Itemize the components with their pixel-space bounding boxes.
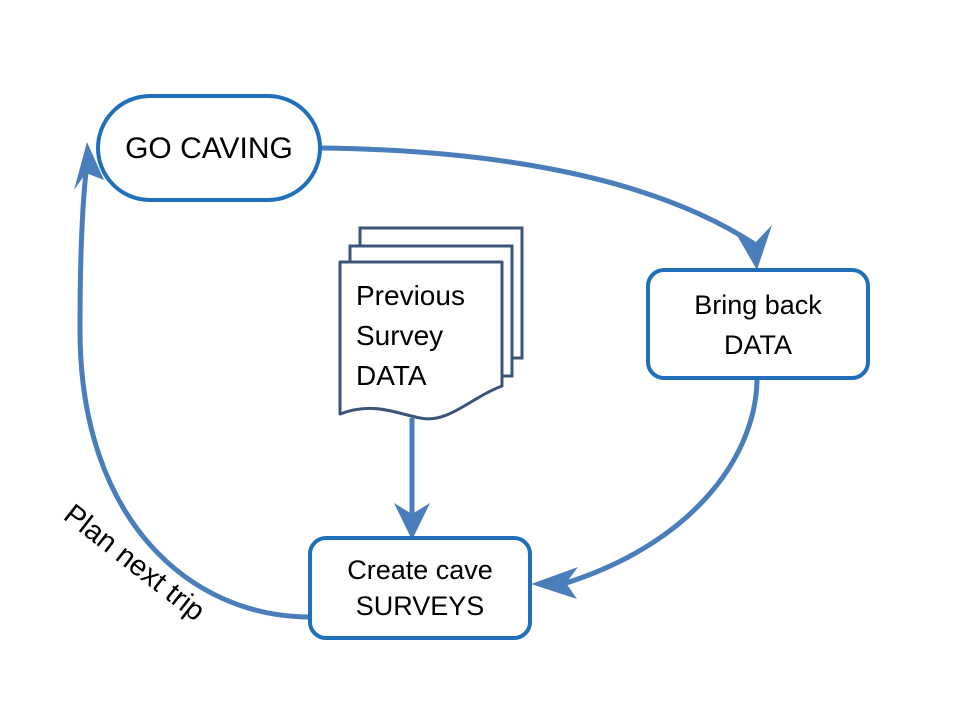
bring-back-data-shape [648, 270, 868, 378]
plan-next-trip-label: Plan next trip [58, 498, 211, 627]
edge-bring-back-data-to-surveys [531, 378, 757, 599]
node-go-caving[interactable]: GO CAVING [98, 96, 320, 200]
edge-documents-to-surveys [394, 418, 430, 540]
node-previous-survey-data[interactable]: Previous Survey DATA [340, 228, 522, 419]
bring-back-data-line-2: DATA [724, 330, 792, 360]
bring-back-data-line-1: Bring back [694, 290, 822, 320]
diagram-canvas: Previous Survey DATA GO CAVING Bring bac… [0, 0, 960, 720]
document-line-3: DATA [356, 360, 427, 391]
node-bring-back-data[interactable]: Bring back DATA [648, 270, 868, 378]
arrowhead-icon [735, 225, 772, 270]
edge-label-plan-next-trip: Plan next trip [58, 498, 211, 627]
node-create-cave-surveys[interactable]: Create cave SURVEYS [310, 538, 530, 638]
flowchart-svg: Previous Survey DATA GO CAVING Bring bac… [0, 0, 960, 720]
create-cave-surveys-line-1: Create cave [347, 555, 493, 585]
document-line-1: Previous [356, 280, 465, 311]
document-line-2: Survey [356, 320, 443, 351]
go-caving-label: GO CAVING [125, 132, 293, 165]
create-cave-surveys-line-2: SURVEYS [356, 591, 485, 621]
create-cave-surveys-shape [310, 538, 530, 638]
